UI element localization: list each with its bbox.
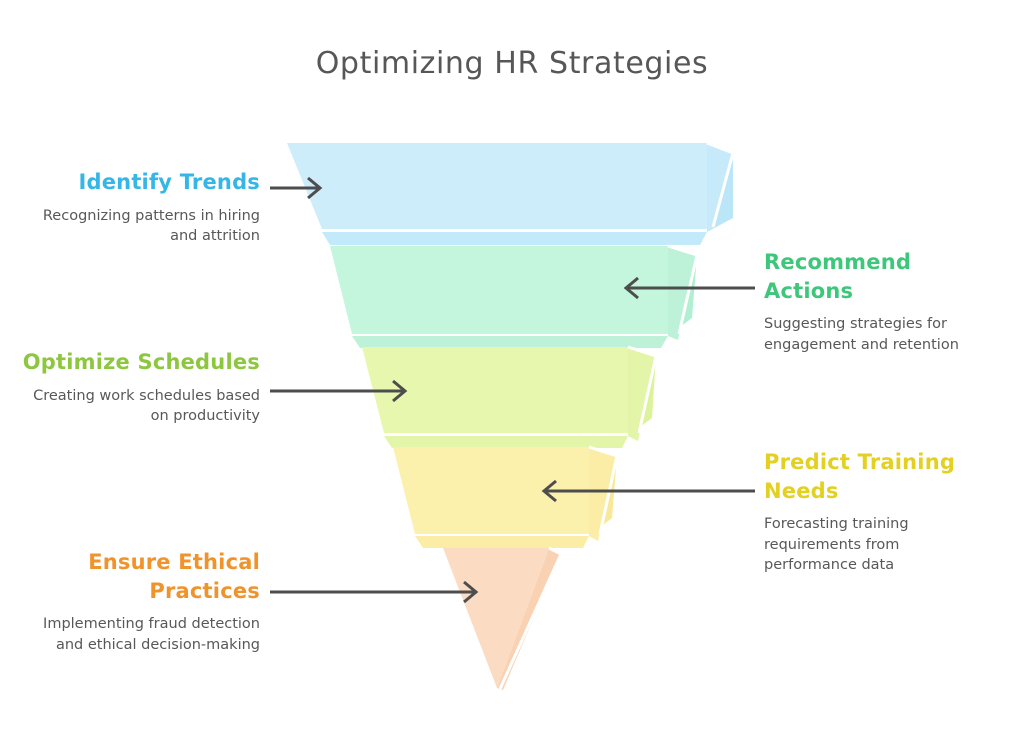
- funnel-stage-4-side: [589, 447, 617, 536]
- funnel-stage-2-edge: [668, 246, 697, 334]
- stage-3-description: Creating work schedules based on product…: [18, 386, 260, 427]
- funnel-stage-5-front: [443, 548, 549, 688]
- funnel-stage-1-side-top: [707, 143, 733, 232]
- funnel-stage-5: [443, 548, 561, 690]
- arrow-stage-3: [270, 381, 405, 401]
- funnel-stage-1-shelf: [322, 232, 707, 245]
- funnel-stage-2-side: [668, 246, 697, 336]
- funnel-stage-5-edge: [500, 548, 561, 689]
- funnel-stage-5-side: [497, 548, 561, 690]
- funnel-stage-1-side: [707, 143, 733, 232]
- funnel-stage-2: [330, 246, 697, 348]
- funnel-stage-4-front: [393, 447, 589, 534]
- stage-4-label: Predict Training Needs: [764, 448, 996, 505]
- funnel-stage-3: [362, 347, 656, 448]
- funnel-stage-4-side-top: [589, 447, 617, 541]
- funnel-stage-3-edge: [628, 347, 656, 433]
- funnel-stage-4-shelf: [415, 536, 589, 548]
- arrow-stage-2: [626, 278, 755, 298]
- funnel-stage-1-front: [287, 143, 707, 229]
- infographic-canvas: Optimizing HR Strategies: [0, 0, 1024, 751]
- funnel-stage-1: [287, 143, 733, 245]
- stage-2-text-block: Recommend Actions Suggesting strategies …: [764, 248, 996, 355]
- stage-5-description: Implementing fraud detection and ethical…: [18, 614, 260, 655]
- funnel-stage-3-front: [362, 347, 628, 433]
- funnel-stage-1-edge: [707, 143, 733, 227]
- funnel-stage-2-shelf: [352, 336, 668, 348]
- funnel-stage-3-shelf: [384, 436, 628, 448]
- arrow-stage-1: [270, 178, 320, 198]
- stage-3-label: Optimize Schedules: [18, 348, 260, 377]
- page-title: Optimizing HR Strategies: [0, 46, 1024, 81]
- stage-5-text-block: Ensure Ethical Practices Implementing fr…: [18, 548, 260, 655]
- stage-2-label: Recommend Actions: [764, 248, 996, 305]
- funnel-stage-2-front: [330, 246, 668, 334]
- stage-2-description: Suggesting strategies for engagement and…: [764, 314, 996, 355]
- stage-1-description: Recognizing patterns in hiring and attri…: [18, 206, 260, 247]
- stage-1-label: Identify Trends: [18, 168, 260, 197]
- stage-5-label: Ensure Ethical Practices: [18, 548, 260, 605]
- stage-1-text-block: Identify Trends Recognizing patterns in …: [18, 168, 260, 247]
- funnel-stage-4-edge: [589, 447, 617, 534]
- arrow-stage-4: [544, 481, 755, 501]
- arrow-stage-5: [270, 582, 476, 602]
- stage-4-description: Forecasting training requirements from p…: [764, 514, 996, 576]
- funnel-stage-3-side: [628, 347, 656, 436]
- stage-4-text-block: Predict Training Needs Forecasting train…: [764, 448, 996, 576]
- funnel-stage-2-side-top: [668, 246, 697, 340]
- funnel-stage-3-side-top: [628, 347, 656, 441]
- stage-3-text-block: Optimize Schedules Creating work schedul…: [18, 348, 260, 427]
- funnel-stage-4: [393, 447, 617, 548]
